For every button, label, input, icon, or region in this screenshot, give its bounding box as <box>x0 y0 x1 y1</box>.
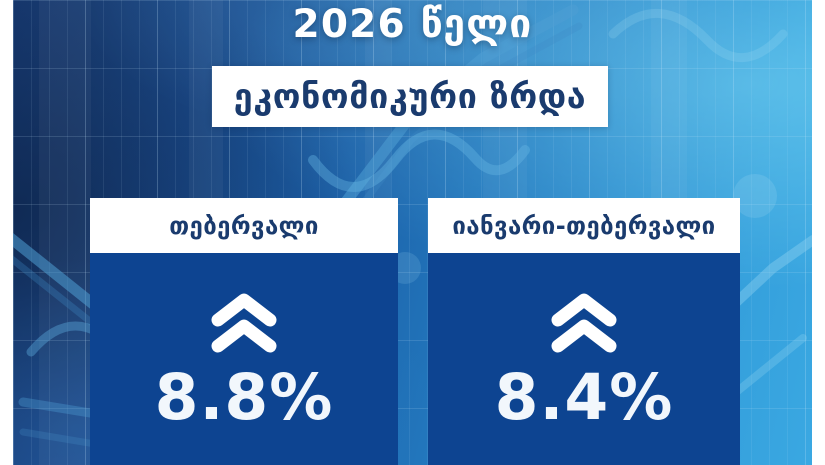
double-chevron-up-icon <box>205 292 283 354</box>
card-value: 8.4% <box>495 366 674 429</box>
card-body: 8.8% <box>90 253 398 465</box>
subtitle-text: ეკონომიკური ზრდა <box>234 77 586 117</box>
page-title: 2026 წელი <box>0 0 825 52</box>
subtitle-banner: ეკონომიკური ზრდა <box>212 66 608 127</box>
left-edge-strip <box>0 0 13 465</box>
card-value: 8.8% <box>155 366 334 429</box>
card-header: იანვარი-თებერვალი <box>428 198 740 253</box>
metric-card-january-february[interactable]: იანვარი-თებერვალი 8.4% <box>428 198 740 465</box>
double-chevron-up-icon <box>545 292 623 354</box>
infographic-stage: 2026 წელი ეკონომიკური ზრდა თებერვალი 8.8… <box>0 0 825 465</box>
card-body: 8.4% <box>428 253 740 465</box>
right-edge-strip <box>812 0 825 465</box>
card-period-label: თებერვალი <box>169 212 319 240</box>
card-period-label: იანვარი-თებერვალი <box>452 212 715 240</box>
card-header: თებერვალი <box>90 198 398 253</box>
metric-card-february[interactable]: თებერვალი 8.8% <box>90 198 398 465</box>
metric-cards: თებერვალი 8.8% იანვარი-თებერვალი <box>0 198 825 465</box>
